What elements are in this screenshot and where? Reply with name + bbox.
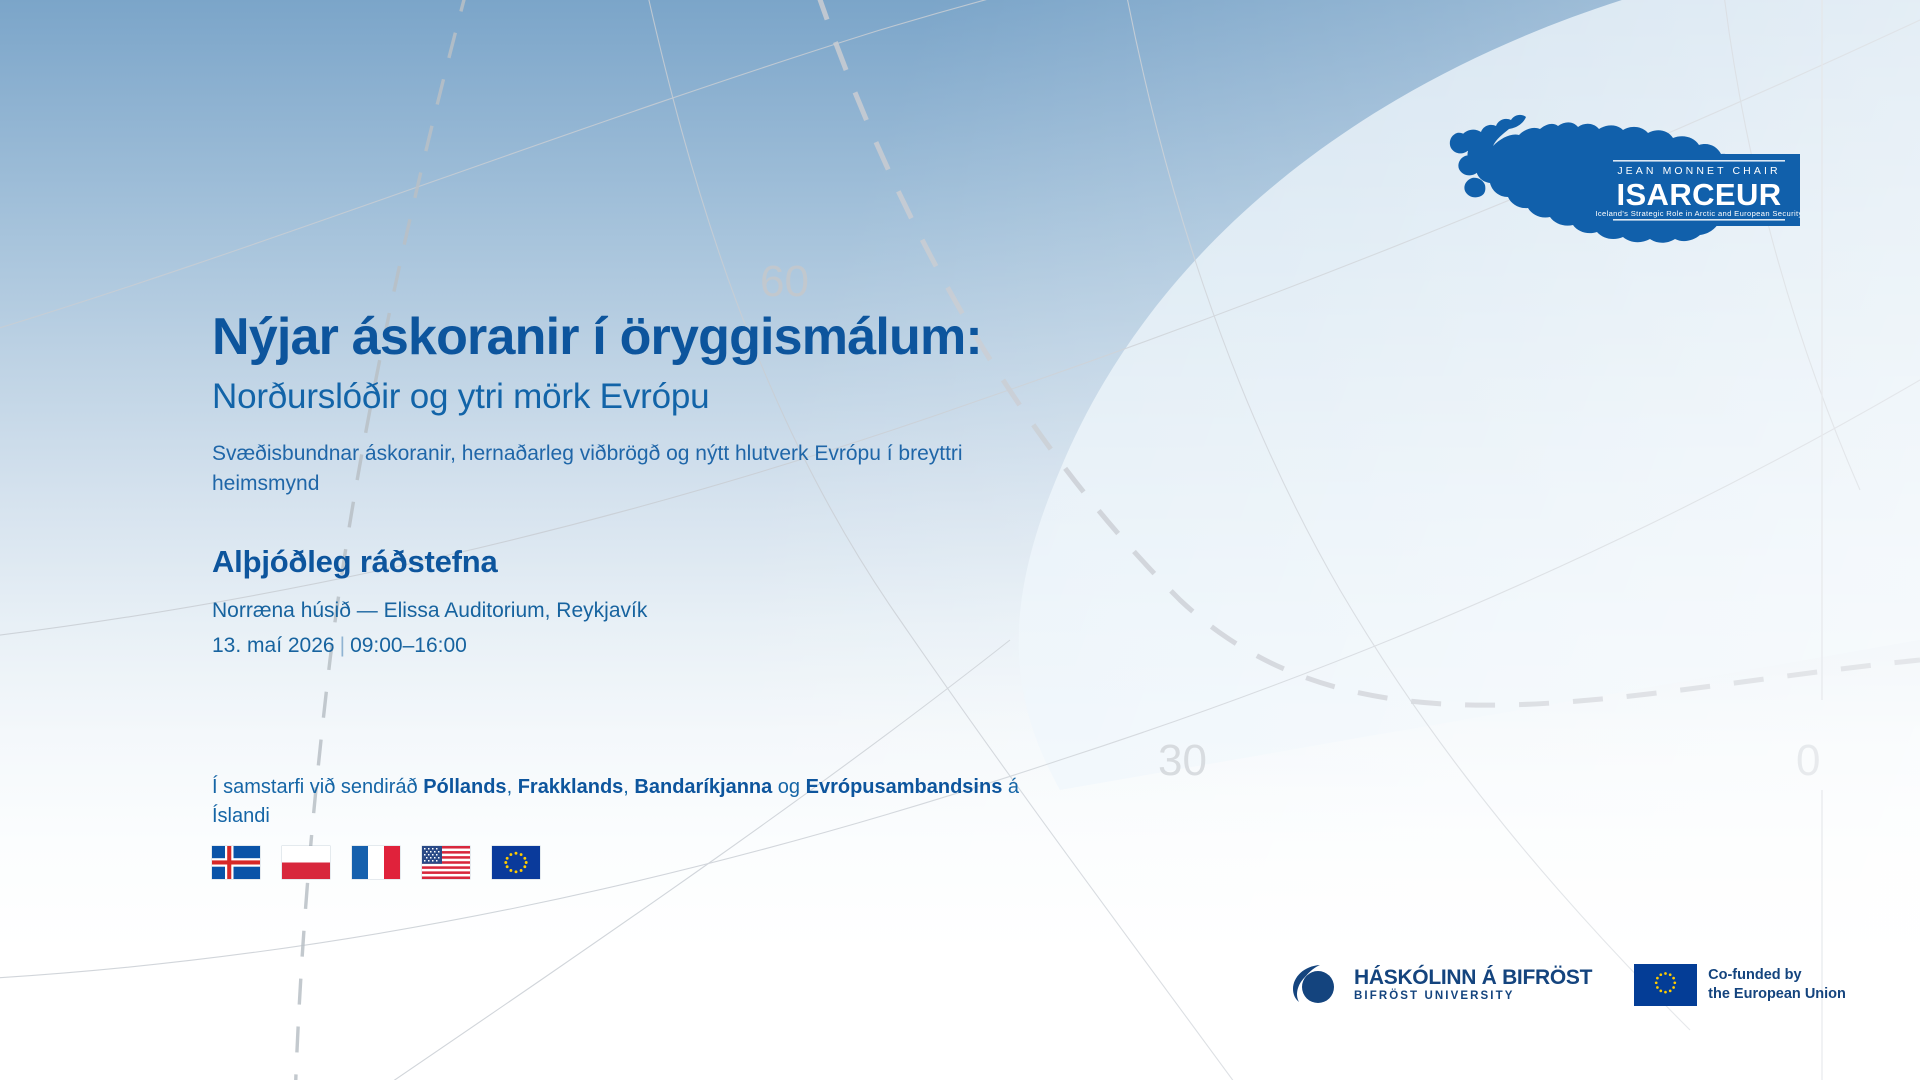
iceland-flag — [212, 846, 260, 879]
event-time-value: 09:00–16:00 — [350, 634, 467, 657]
cofunded-line-2: the European Union — [1708, 985, 1846, 1004]
bifrost-university-name: HÁSKÓLINN Á BIFRÖST — [1354, 967, 1592, 988]
bifrost-university-subtitle: BIFRÖST UNIVERSITY — [1354, 991, 1592, 1003]
event-datetime: 13. maí 2026|09:00–16:00 — [212, 634, 467, 658]
jean-monnet-chair-label: JEAN MONNET CHAIR — [1617, 165, 1780, 177]
partner-country-poland: Póllands — [423, 776, 506, 798]
eu-emblem-icon — [1634, 964, 1697, 1006]
france-flag — [352, 846, 400, 879]
isarceur-acronym: ISARCEUR — [1616, 177, 1781, 212]
poster-title-main: Nýjar áskoranir í öryggismálum: — [212, 311, 982, 364]
isarceur-tagline: Iceland's Strategic Role in Arctic and E… — [1595, 209, 1800, 218]
partners-statement: Í samstarfi við sendiráð Póllands, Frakk… — [212, 773, 1072, 831]
poster-title-sub: Norðurslóðir og ytri mörk Evrópu — [212, 378, 709, 417]
bottom-logo-row: HÁSKÓLINN Á BIFRÖST BIFRÖST UNIVERSITY — [1290, 950, 1910, 1020]
poster-description: Svæðisbundnar áskoranir, hernaðarleg við… — [212, 439, 972, 499]
bifrost-university-logo: HÁSKÓLINN Á BIFRÖST BIFRÖST UNIVERSITY — [1290, 962, 1592, 1008]
partner-country-france: Frakklands — [518, 776, 624, 798]
isarceur-logo: JEAN MONNET CHAIR ISARCEUR Iceland's Str… — [1445, 108, 1800, 268]
usa-flag — [422, 846, 470, 879]
partners-conjunction: og — [772, 776, 805, 798]
poland-flag — [282, 846, 330, 879]
cofunded-line-1: Co-funded by — [1708, 966, 1846, 985]
partners-comma-1: , — [507, 776, 518, 798]
eu-flag — [492, 846, 540, 879]
partner-country-usa: Bandaríkjanna — [634, 776, 772, 798]
partner-flags-row — [212, 846, 540, 879]
partner-european-union: Evrópusambandsins — [806, 776, 1003, 798]
conference-poster: 60 30 0 JEAN MONNET CHAIR ISARCEUR Icela… — [0, 0, 1920, 1080]
event-venue: Norræna húsið — Elissa Auditorium, Reykj… — [212, 599, 647, 623]
partners-lead-text: Í samstarfi við sendiráð — [212, 776, 423, 798]
bifrost-mark-icon — [1290, 962, 1342, 1008]
poster-content: Nýjar áskoranir í öryggismálum: Norðursl… — [212, 0, 1312, 1080]
event-date-value: 13. maí 2026 — [212, 634, 335, 657]
event-separator: | — [335, 634, 350, 657]
event-type-label: Alþjóðleg ráðstefna — [212, 544, 498, 580]
partners-comma-2: , — [623, 776, 634, 798]
eu-cofunding-logo: Co-funded by the European Union — [1634, 964, 1846, 1006]
eu-cofunding-text: Co-funded by the European Union — [1708, 966, 1846, 1003]
